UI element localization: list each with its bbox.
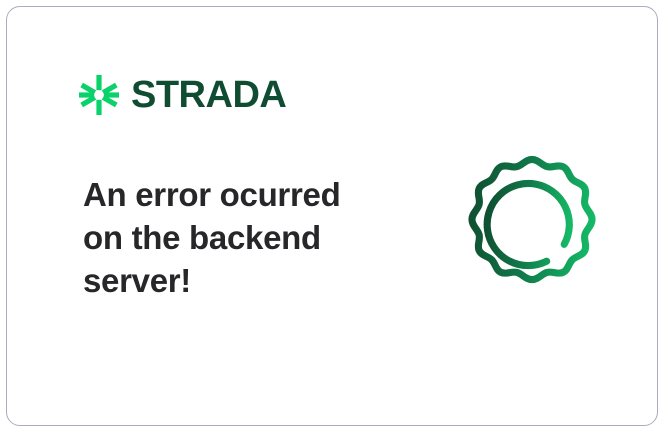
brand-lockup: STRADA <box>79 75 286 115</box>
gear-inner-ring <box>487 183 569 265</box>
error-message-text: An error ocurred on the backend server! <box>83 173 383 302</box>
brand-wordmark: STRADA <box>131 76 286 114</box>
error-card: STRADA An error ocurred on the backend s… <box>6 6 658 426</box>
strada-asterisk-icon <box>79 75 119 115</box>
gear-cog-icon <box>453 150 611 308</box>
